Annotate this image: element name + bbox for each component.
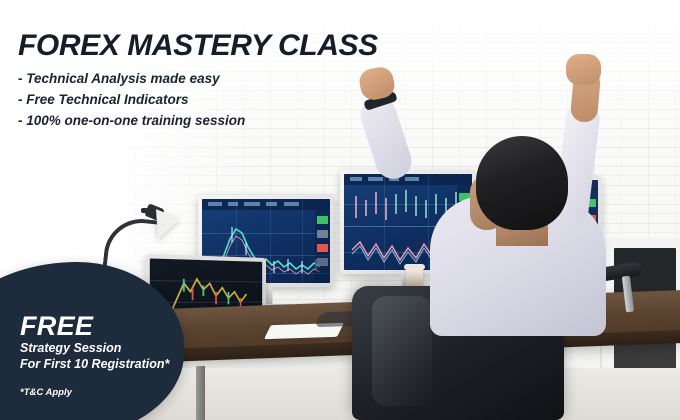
offer-line-2: For First 10 Registration* [20, 356, 190, 372]
person-head [476, 136, 568, 230]
desk-leg-left [196, 366, 205, 420]
page-title: FOREX MASTERY CLASS [18, 29, 378, 63]
offer-free-label: FREE [20, 312, 190, 340]
chair-highlight [372, 296, 432, 406]
list-item: - Technical Analysis made easy [18, 68, 245, 89]
offer-badge-text: FREE Strategy Session For First 10 Regis… [20, 312, 190, 372]
person-right-fist [566, 54, 601, 85]
terms-note: *T&C Apply [20, 387, 72, 398]
promo-banner: FOREX MASTERY CLASS - Technical Analysis… [0, 0, 680, 420]
offer-line-1: Strategy Session [20, 340, 190, 356]
feature-list: - Technical Analysis made easy - Free Te… [18, 68, 245, 131]
list-item: - Free Technical Indicators [18, 89, 245, 110]
list-item: - 100% one-on-one training session [18, 110, 245, 131]
chart-side-panel [315, 210, 330, 283]
